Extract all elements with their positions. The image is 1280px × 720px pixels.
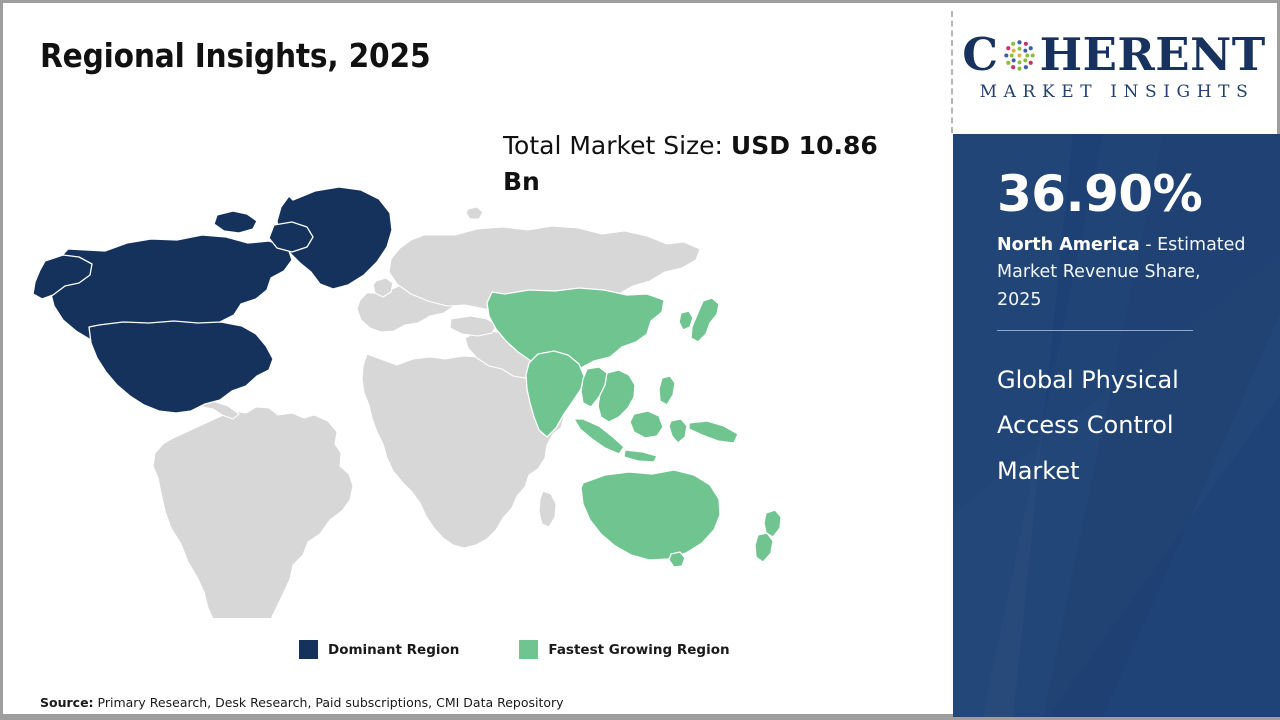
legend-label-dominant: Dominant Region xyxy=(328,642,459,658)
report-title: Global Physical Access Control Market xyxy=(997,358,1248,495)
region-indonesia-sumatra xyxy=(574,419,624,454)
legend-swatch-growth-icon xyxy=(519,640,538,659)
legend-item-fastest-growing: Fastest Growing Region xyxy=(519,640,729,659)
region-svalbard xyxy=(466,207,483,219)
legend-swatch-dominant-icon xyxy=(299,640,318,659)
total-market-size-label: Total Market Size: xyxy=(503,131,731,160)
world-map-svg xyxy=(31,173,831,618)
region-japan xyxy=(691,298,719,342)
highlight-panel-content: 36.90% North America - Estimated Market … xyxy=(953,134,1280,495)
region-borneo xyxy=(630,411,663,438)
logo-letter-c: C xyxy=(962,32,998,77)
region-new-zealand-south xyxy=(755,533,773,562)
legend-item-dominant: Dominant Region xyxy=(299,640,459,659)
region-indonesia-java xyxy=(624,450,657,462)
stat-region-name: North America xyxy=(997,235,1140,255)
region-south-america xyxy=(153,407,353,618)
panel-divider-rule xyxy=(997,330,1193,331)
globe-icon xyxy=(1000,36,1039,75)
logo-tagline: MARKET INSIGHTS xyxy=(974,82,1255,102)
source-note: Source: Primary Research, Desk Research,… xyxy=(40,695,564,710)
legend-label-fastest-growing: Fastest Growing Region xyxy=(548,642,729,658)
stat-value: 36.90% xyxy=(997,169,1248,219)
stat-description: North America - Estimated Market Revenue… xyxy=(997,232,1248,314)
map-dominant-region xyxy=(33,187,392,413)
region-madagascar xyxy=(539,491,556,527)
source-label: Source: xyxy=(40,695,94,710)
region-sulawesi xyxy=(669,419,687,443)
region-arctic-islands xyxy=(214,211,257,233)
coherent-market-insights-logo: C HERENT MARKET INSIGHTS xyxy=(961,17,1267,117)
world-map xyxy=(31,173,831,618)
region-tasmania xyxy=(669,552,685,567)
region-philippines xyxy=(659,376,675,405)
page-title: Regional Insights, 2025 xyxy=(40,36,430,75)
map-legend: Dominant Region Fastest Growing Region xyxy=(299,640,730,659)
logo-wordmark: C HERENT xyxy=(962,32,1265,77)
highlight-panel: 36.90% North America - Estimated Market … xyxy=(953,134,1280,717)
source-text: Primary Research, Desk Research, Paid su… xyxy=(94,695,564,710)
regional-insights-slide: Regional Insights, 2025 Total Market Siz… xyxy=(0,0,1280,720)
region-new-guinea xyxy=(689,421,738,443)
vertical-dashed-divider xyxy=(951,11,953,133)
region-korea xyxy=(679,311,693,330)
region-australia xyxy=(581,470,720,560)
region-united-states xyxy=(89,321,273,413)
logo-letters-herent: HERENT xyxy=(1040,32,1266,77)
